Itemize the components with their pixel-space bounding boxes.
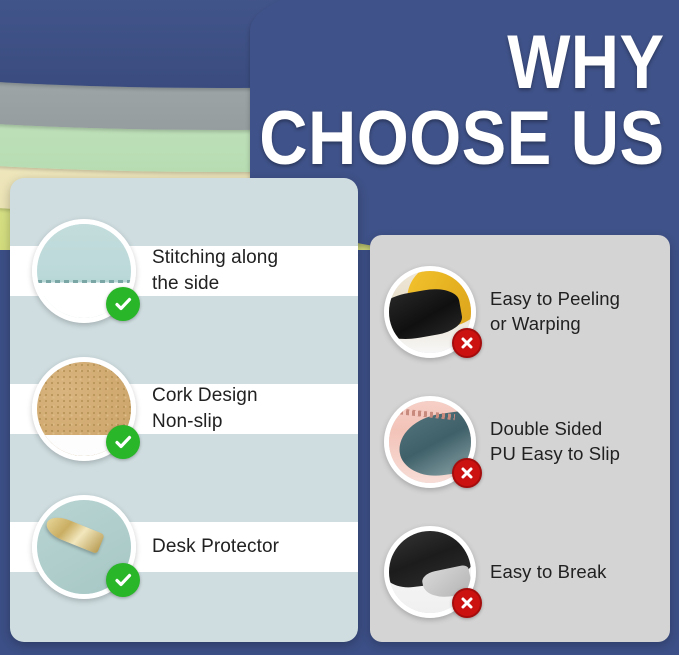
con-label-2: Double Sided PU Easy to Slip bbox=[490, 417, 620, 467]
pro-item-stitching: Stitching along the side bbox=[32, 212, 342, 330]
pro-label-2-line-1: Cork Design bbox=[152, 383, 258, 409]
con-label-1-line-1: Easy to Peeling bbox=[490, 287, 620, 312]
why-choose-us-poster: WHY CHOOSE US Stitching along bbox=[0, 0, 679, 655]
cross-badge bbox=[452, 458, 482, 488]
pro-label-2-line-2: Non-slip bbox=[152, 409, 258, 435]
check-badge bbox=[106, 425, 140, 459]
check-badge bbox=[106, 563, 140, 597]
pro-label-3: Desk Protector bbox=[152, 534, 279, 560]
pro-thumb-wrap-3 bbox=[32, 495, 136, 599]
pros-panel: Stitching along the side Cork Design Non… bbox=[10, 178, 358, 642]
cross-badge bbox=[452, 588, 482, 618]
con-label-2-line-1: Double Sided bbox=[490, 417, 620, 442]
con-label-2-line-2: PU Easy to Slip bbox=[490, 442, 620, 467]
con-label-3: Easy to Break bbox=[490, 560, 606, 585]
headline-line-2: CHOOSE US bbox=[260, 104, 665, 174]
pro-label-1-line-2: the side bbox=[152, 271, 278, 297]
pro-label-3-line-1: Desk Protector bbox=[152, 534, 279, 560]
con-item-peeling: Easy to Peeling or Warping bbox=[384, 253, 664, 371]
pro-thumb-wrap-2 bbox=[32, 357, 136, 461]
pro-item-desk-protector: Desk Protector bbox=[32, 488, 342, 606]
con-thumb-wrap-1 bbox=[384, 266, 476, 358]
cross-badge bbox=[452, 328, 482, 358]
check-badge bbox=[106, 287, 140, 321]
pro-thumb-wrap-1 bbox=[32, 219, 136, 323]
con-thumb-wrap-2 bbox=[384, 396, 476, 488]
con-label-1: Easy to Peeling or Warping bbox=[490, 287, 620, 337]
con-label-1-line-2: or Warping bbox=[490, 312, 620, 337]
page-title: WHY CHOOSE US bbox=[204, 28, 665, 174]
pro-label-1-line-1: Stitching along bbox=[152, 245, 278, 271]
con-item-break: Easy to Break bbox=[384, 513, 664, 631]
pro-label-1: Stitching along the side bbox=[152, 245, 278, 296]
headline-line-1: WHY bbox=[260, 28, 665, 98]
con-label-3-line-1: Easy to Break bbox=[490, 560, 606, 585]
pro-item-cork: Cork Design Non-slip bbox=[32, 350, 342, 468]
con-thumb-wrap-3 bbox=[384, 526, 476, 618]
cons-panel: Easy to Peeling or Warping Double Sided … bbox=[370, 235, 670, 642]
pro-label-2: Cork Design Non-slip bbox=[152, 383, 258, 434]
con-item-double-sided-pu: Double Sided PU Easy to Slip bbox=[384, 383, 664, 501]
